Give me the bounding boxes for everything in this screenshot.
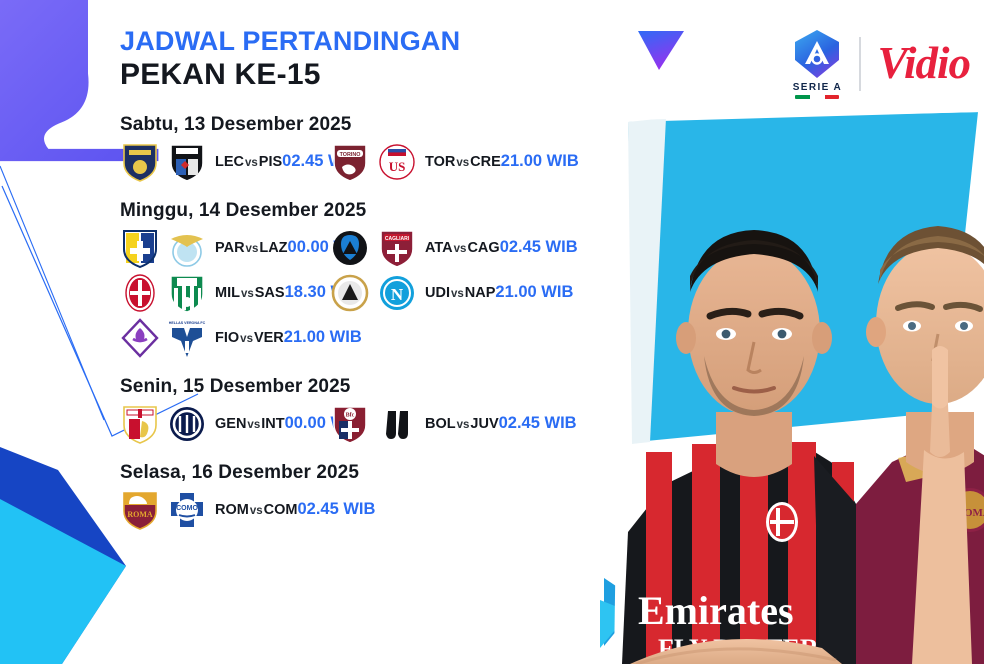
match-time: 02.45 WIB xyxy=(297,500,375,518)
versus-label: vs xyxy=(456,419,471,431)
match-time: 21.00 WIB xyxy=(284,328,362,346)
svg-text:Bfc: Bfc xyxy=(346,412,355,418)
away-team-code: LAZ xyxy=(259,240,287,256)
match-teams: ROMvsCOM xyxy=(215,502,297,518)
match-item[interactable]: TORINOUSTORvsCRE21.00 WIB xyxy=(330,141,540,183)
match-row: LECvsPIS02.45 WIBTORINOUSTORvsCRE21.00 W… xyxy=(120,141,612,183)
page-title-line2: PEKAN KE-15 xyxy=(120,58,612,93)
day-title: Senin, 15 Desember 2025 xyxy=(120,376,612,398)
bologna-crest: Bfc xyxy=(330,403,370,445)
away-team-code: COM xyxy=(264,502,298,518)
match-time: 02.45 WIB xyxy=(500,238,578,256)
match-item[interactable]: NUDIvsNAP21.00 WIB xyxy=(330,272,540,314)
match-teams: ATAvsCAG xyxy=(425,240,500,256)
match-text: FIOvsVER21.00 WIB xyxy=(214,329,362,347)
match-item[interactable]: LECvsPIS02.45 WIB xyxy=(120,141,330,183)
match-teams: BOLvsJUV xyxy=(425,416,499,432)
away-team-code: CRE xyxy=(470,154,501,170)
day-title: Minggu, 14 Desember 2025 xyxy=(120,200,612,222)
italy-flag-bar xyxy=(795,95,839,99)
lecce-crest xyxy=(120,141,160,183)
match-text: ATAvsCAG02.45 WIB xyxy=(424,239,578,257)
home-team-code: TOR xyxy=(425,154,455,170)
players-photo: Emirates FLY BETTER xyxy=(606,112,996,664)
day-block: Sabtu, 13 Desember 2025LECvsPIS02.45 WIB… xyxy=(120,114,612,183)
match-time: 21.00 WIB xyxy=(495,283,573,301)
accent-triangle-icon xyxy=(638,31,684,70)
svg-text:ROMA: ROMA xyxy=(127,510,153,519)
page-title-line1: JADWAL PERTANDINGAN xyxy=(120,26,612,56)
day-block: Minggu, 14 Desember 2025PARvsLAZ00.00 WI… xyxy=(120,200,612,359)
match-item[interactable]: CAGLIARIATAvsCAG02.45 WIB xyxy=(330,227,540,269)
versus-label: vs xyxy=(246,419,261,431)
versus-label: vs xyxy=(245,243,260,255)
match-crests: CAGLIARI xyxy=(330,227,417,269)
match-teams: FIOvsVER xyxy=(215,330,284,346)
cagliari-crest: CAGLIARI xyxy=(377,227,417,269)
svg-text:HELLAS VERONA FC: HELLAS VERONA FC xyxy=(169,321,206,325)
fiorentina-crest xyxy=(120,317,160,359)
match-time: 21.00 WIB xyxy=(501,152,579,170)
match-time: 02.45 WIB xyxy=(499,414,577,432)
serie-a-shield-icon xyxy=(791,28,843,80)
cremonese-crest: US xyxy=(377,141,417,183)
home-team-code: MIL xyxy=(215,285,240,301)
away-team-code: PIS xyxy=(259,154,282,170)
parma-crest xyxy=(120,227,160,269)
pisa-crest xyxy=(167,141,207,183)
match-item[interactable]: HELLAS VERONA FCFIOvsVER21.00 WIB xyxy=(120,317,330,359)
match-text: BOLvsJUV02.45 WIB xyxy=(424,415,577,433)
match-crests: ROMACOMO xyxy=(120,489,207,531)
versus-label: vs xyxy=(240,288,255,300)
match-teams: MILvsSAS xyxy=(215,285,285,301)
versus-label: vs xyxy=(453,243,468,255)
match-teams: LECvsPIS xyxy=(215,154,282,170)
home-team-code: PAR xyxy=(215,240,245,256)
torino-crest: TORINO xyxy=(330,141,370,183)
match-text: TORvsCRE21.00 WIB xyxy=(424,153,579,171)
day-title: Sabtu, 13 Desember 2025 xyxy=(120,114,612,136)
milan-crest xyxy=(120,272,160,314)
away-team-code: INT xyxy=(261,416,284,432)
day-block: Senin, 15 Desember 2025GENvsINT00.00 WIB… xyxy=(120,376,612,445)
genoa-crest xyxy=(120,403,160,445)
svg-text:CAGLIARI: CAGLIARI xyxy=(385,236,410,242)
match-teams: PARvsLAZ xyxy=(215,240,288,256)
home-team-code: ATA xyxy=(425,240,453,256)
svg-text:COMO: COMO xyxy=(176,505,198,512)
home-team-code: ROM xyxy=(215,502,249,518)
match-crests: Bfc xyxy=(330,403,417,445)
inter-crest xyxy=(167,403,207,445)
match-text: ROMvsCOM02.45 WIB xyxy=(214,501,375,519)
day-title: Selasa, 16 Desember 2025 xyxy=(120,462,612,484)
match-crests xyxy=(120,403,207,445)
home-team-code: BOL xyxy=(425,416,456,432)
lazio-crest xyxy=(167,227,207,269)
match-teams: TORvsCRE xyxy=(425,154,501,170)
match-item[interactable]: ROMACOMOROMvsCOM02.45 WIB xyxy=(120,489,330,531)
como-crest: COMO xyxy=(167,489,207,531)
home-team-code: LEC xyxy=(215,154,244,170)
match-crests: TORINOUS xyxy=(330,141,417,183)
versus-label: vs xyxy=(455,157,470,169)
verona-crest: HELLAS VERONA FC xyxy=(167,317,207,359)
home-team-code: GEN xyxy=(215,416,246,432)
juventus-crest xyxy=(377,403,417,445)
match-teams: GENvsINT xyxy=(215,416,285,432)
match-teams: UDIvsNAP xyxy=(425,285,495,301)
svg-text:US: US xyxy=(389,159,406,174)
match-crests: HELLAS VERONA FC xyxy=(120,317,207,359)
atalanta-crest xyxy=(330,227,370,269)
vidio-logo: Vidio xyxy=(877,41,970,86)
day-block: Selasa, 16 Desember 2025ROMACOMOROMvsCOM… xyxy=(120,462,612,531)
match-row: HELLAS VERONA FCFIOvsVER21.00 WIB xyxy=(120,317,612,359)
versus-label: vs xyxy=(239,333,254,345)
serie-a-logo: SERIE A xyxy=(791,28,843,99)
versus-label: vs xyxy=(249,505,264,517)
match-text: UDIvsNAP21.00 WIB xyxy=(424,284,573,302)
match-crests xyxy=(120,141,207,183)
match-crests xyxy=(120,227,207,269)
away-team-code: VER xyxy=(254,330,284,346)
schedule-content: JADWAL PERTANDINGAN PEKAN KE-15 Sabtu, 1… xyxy=(0,0,612,664)
home-team-code: UDI xyxy=(425,285,450,301)
match-row: ROMACOMOROMvsCOM02.45 WIB xyxy=(120,489,612,531)
away-team-code: NAP xyxy=(465,285,496,301)
logo-divider xyxy=(859,37,861,91)
match-crests xyxy=(120,272,207,314)
away-team-code: JUV xyxy=(470,416,498,432)
napoli-crest: N xyxy=(377,272,417,314)
match-crests: N xyxy=(330,272,417,314)
versus-label: vs xyxy=(244,157,259,169)
roma-crest: ROMA xyxy=(120,489,160,531)
away-team-code: CAG xyxy=(467,240,499,256)
match-item[interactable]: GENvsINT00.00 WIB xyxy=(120,403,330,445)
day-list: Sabtu, 13 Desember 2025LECvsPIS02.45 WIB… xyxy=(120,114,612,531)
match-row: MILvsSAS18.30 WIBNUDIvsNAP21.00 WIB xyxy=(120,272,612,314)
match-item[interactable]: PARvsLAZ00.00 WIB xyxy=(120,227,330,269)
home-team-code: FIO xyxy=(215,330,239,346)
udinese-crest xyxy=(330,272,370,314)
sassuolo-crest xyxy=(167,272,207,314)
match-item[interactable]: MILvsSAS18.30 WIB xyxy=(120,272,330,314)
match-row: PARvsLAZ00.00 WIBCAGLIARIATAvsCAG02.45 W… xyxy=(120,227,612,269)
brand-logos: SERIE A Vidio xyxy=(791,28,970,99)
serie-a-wordmark: SERIE A xyxy=(793,82,842,93)
match-item[interactable]: BfcBOLvsJUV02.45 WIB xyxy=(330,403,540,445)
versus-label: vs xyxy=(450,288,465,300)
svg-text:Emirates: Emirates xyxy=(638,588,794,633)
svg-text:TORINO: TORINO xyxy=(340,152,361,158)
match-row: GENvsINT00.00 WIBBfcBOLvsJUV02.45 WIB xyxy=(120,403,612,445)
away-team-code: SAS xyxy=(255,285,285,301)
svg-text:N: N xyxy=(391,285,404,304)
